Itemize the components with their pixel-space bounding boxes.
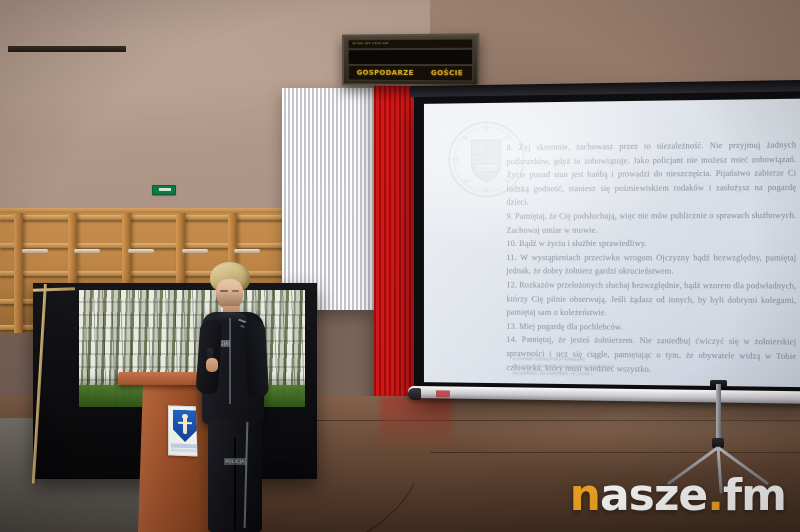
police-officer: POLICJA POLICJA	[196, 262, 280, 532]
police-emblem-text: POLICJA	[476, 166, 497, 172]
watermark-naszefm: nasze.fm	[570, 474, 786, 518]
watermark-suffix: fm	[723, 470, 786, 521]
scoreboard-header: WYNIK SET CZAS GRY	[348, 39, 473, 50]
coat-of-arms-sublabel	[171, 449, 199, 453]
officer-jacket-zipper	[229, 318, 231, 404]
scoreboard-home-label: GOSPODARZE	[357, 69, 414, 77]
slide-body-text: 8. Żyj skromnie, zachowasz przez to niez…	[506, 138, 796, 378]
coat-of-arms-figure-arms	[178, 422, 192, 424]
slide-paragraph-12: 12. Rozkazów przełożonych słuchaj bezwzg…	[506, 278, 796, 321]
scoreboard-tiny-label: WYNIK SET CZAS GRY	[352, 41, 389, 45]
screen-roller-cap	[408, 388, 421, 400]
projection-screen: POLICJA 8. Żyj skromnie, zachowasz przez…	[414, 90, 800, 402]
slide-paragraph-9: 9. Pamiętaj, że Cię podsłuchują, więc ni…	[506, 209, 796, 237]
slide-paragraph-11: 11. W wystąpieniach przeciwko wrogom Ojc…	[506, 251, 796, 279]
watermark-middle: asze	[600, 470, 707, 521]
coat-of-arms-shield	[173, 410, 197, 443]
trouser-badge-police: POLICJA	[224, 458, 246, 465]
scoreboard-team-labels: GOSPODARZE GOŚCIE	[348, 65, 473, 82]
officer-trouser-split	[234, 438, 236, 530]
coat-of-arms-figure-body	[183, 417, 187, 434]
slide-paragraph-8: 8. Żyj skromnie, zachowasz przez to niez…	[506, 138, 796, 210]
officer-eye-left	[220, 290, 228, 292]
white-curtain	[282, 88, 374, 310]
officer-eye-right	[232, 290, 239, 292]
exit-sign	[152, 185, 176, 195]
tripod-pole	[716, 384, 721, 440]
watermark-accent-letter: n	[570, 470, 600, 521]
scoreboard-mount	[8, 46, 126, 52]
scoreboard-digits	[348, 49, 473, 65]
slide-paragraph-10: 10. Bądź w życiu i służbie sprawiedliwy.	[506, 237, 796, 251]
podium-front	[138, 384, 200, 532]
officer-arm-right	[244, 320, 269, 399]
photograph: WYNIK SET CZAS GRY GOSPODARZE GOŚCIE	[0, 0, 800, 532]
screen-brand-logo	[436, 390, 450, 397]
scoreboard: WYNIK SET CZAS GRY GOSPODARZE GOŚCIE	[342, 33, 479, 86]
officer-hand	[206, 358, 218, 372]
slide-footnote: Komendant Główny Policji Państwowej Gen.…	[513, 355, 767, 380]
watermark-dot: .	[707, 470, 723, 521]
projected-slide: POLICJA 8. Żyj skromnie, zachowasz przez…	[424, 99, 800, 388]
scoreboard-guest-label: GOŚCIE	[431, 69, 463, 77]
